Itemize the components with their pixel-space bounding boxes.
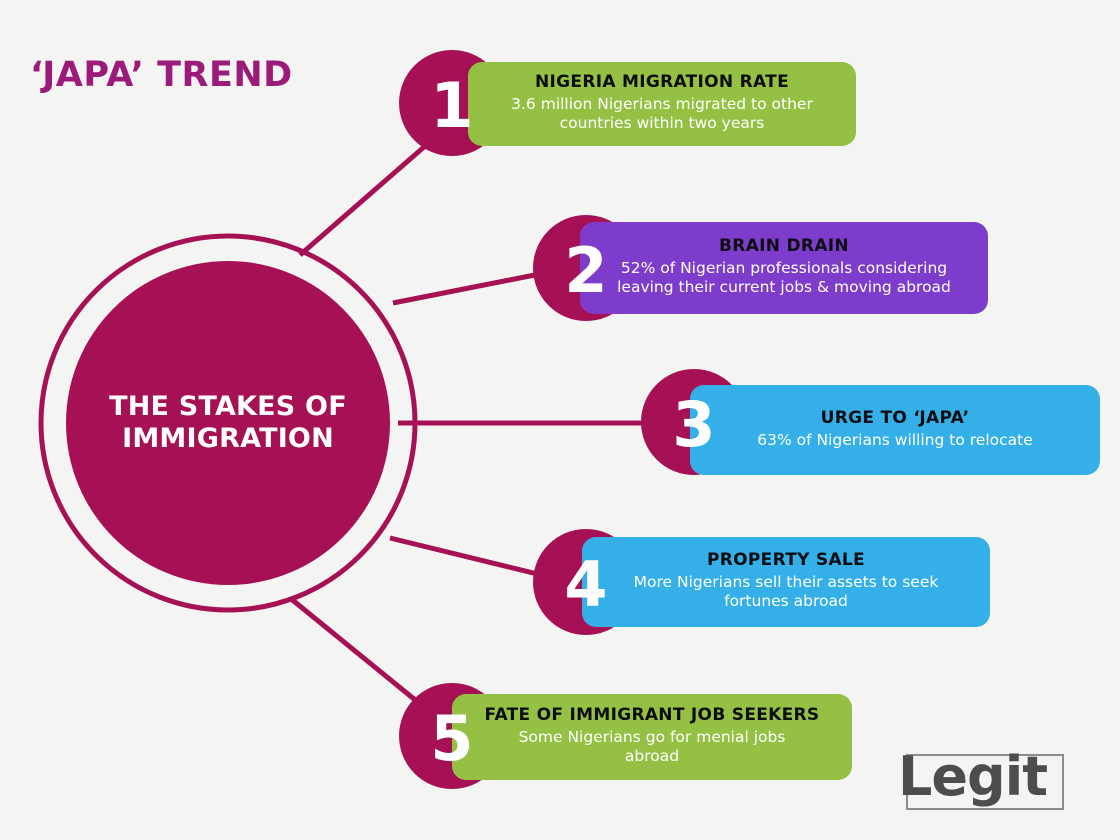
info-bar-2[interactable]: BRAIN DRAIN 52% of Nigerian professional… bbox=[580, 222, 988, 314]
info-bar-title: FATE OF IMMIGRANT JOB SEEKERS bbox=[485, 706, 820, 725]
info-bar-title: BRAIN DRAIN bbox=[719, 237, 849, 256]
info-bar-4[interactable]: PROPERTY SALE More Nigerians sell their … bbox=[582, 537, 990, 627]
info-bar-body-line2: fortunes abroad bbox=[724, 592, 848, 610]
info-bar-title: URGE TO ‘JAPA’ bbox=[821, 409, 970, 428]
info-bar-1[interactable]: NIGERIA MIGRATION RATE 3.6 million Niger… bbox=[468, 62, 856, 146]
info-bar-body: More Nigerians sell their assets to seek… bbox=[634, 573, 939, 610]
info-bar-body-line1: 52% of Nigerian professionals considerin… bbox=[621, 259, 947, 277]
info-bar-title: NIGERIA MIGRATION RATE bbox=[535, 73, 789, 92]
info-bar-3[interactable]: URGE TO ‘JAPA’ 63% of Nigerians willing … bbox=[690, 385, 1100, 475]
info-bar-body-line1: Some Nigerians go for menial jobs bbox=[519, 728, 786, 746]
info-bar-body-line1: More Nigerians sell their assets to seek bbox=[634, 573, 939, 591]
info-bar-body: Some Nigerians go for menial jobs abroad bbox=[519, 728, 786, 765]
info-bar-body-line1: 63% of Nigerians willing to relocate bbox=[757, 431, 1033, 449]
info-bar-body: 63% of Nigerians willing to relocate bbox=[757, 431, 1033, 450]
logo-text: Legit bbox=[898, 746, 1047, 808]
connector-line-5 bbox=[290, 598, 430, 712]
info-bar-body-line2: countries within two years bbox=[560, 114, 765, 132]
info-bar-body-line2: abroad bbox=[625, 747, 679, 765]
info-bar-5[interactable]: FATE OF IMMIGRANT JOB SEEKERS Some Niger… bbox=[452, 694, 852, 780]
hub-disc bbox=[66, 261, 390, 585]
info-bar-body: 3.6 million Nigerians migrated to other … bbox=[511, 95, 813, 132]
infographic-canvas: ‘JAPA’ TREND NIGERIA MIGRATION RATE 3.6 … bbox=[0, 0, 1120, 840]
info-bar-body-line2: leaving their current jobs & moving abro… bbox=[617, 278, 951, 296]
info-bar-title: PROPERTY SALE bbox=[707, 551, 865, 570]
info-bar-body: 52% of Nigerian professionals considerin… bbox=[617, 259, 951, 296]
connector-line-1 bbox=[300, 140, 432, 255]
legit-logo: Legit bbox=[898, 748, 1064, 810]
info-bar-body-line1: 3.6 million Nigerians migrated to other bbox=[511, 95, 813, 113]
